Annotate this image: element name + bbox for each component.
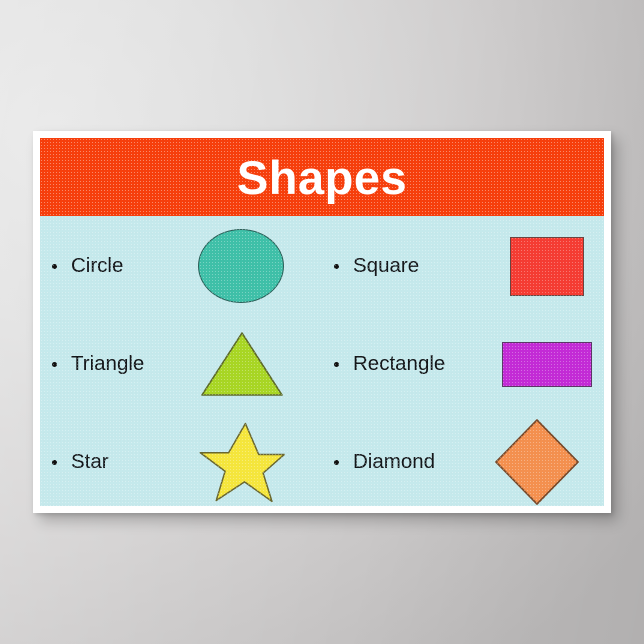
- shapes-poster: Shapes Circle: [33, 131, 611, 513]
- list-item: Circle: [40, 216, 322, 316]
- list-item: Star: [40, 412, 322, 506]
- shape-entry-diamond: Diamond: [322, 452, 474, 473]
- bullet-icon: [52, 460, 57, 465]
- list-item: Rectangle: [322, 314, 604, 414]
- shapes-column-right: Square Rectangle: [322, 216, 604, 506]
- bullet-icon: [334, 264, 339, 269]
- bullet-icon: [52, 362, 57, 367]
- bullet-icon: [334, 460, 339, 465]
- shape-label-triangle: Triangle: [71, 354, 144, 375]
- shape-entry-circle: Circle: [40, 256, 192, 277]
- poster-body: Circle Triangle: [40, 216, 604, 506]
- poster-title-band: Shapes: [40, 138, 604, 216]
- shape-entry-rectangle: Rectangle: [322, 354, 474, 375]
- bullet-icon: [334, 362, 339, 367]
- poster-inner-surface: Shapes Circle: [40, 138, 604, 506]
- shape-entry-square: Square: [322, 256, 474, 277]
- circle-shape: [198, 229, 284, 303]
- bullet-icon: [52, 264, 57, 269]
- page-title: Shapes: [237, 154, 407, 201]
- triangle-shape: [200, 331, 284, 397]
- star-shape: [194, 420, 288, 504]
- shape-label-diamond: Diamond: [353, 452, 435, 473]
- list-item: Triangle: [40, 314, 322, 414]
- shape-label-circle: Circle: [71, 256, 123, 277]
- square-shape: [510, 237, 584, 296]
- list-item: Diamond: [322, 412, 604, 506]
- diamond-shape: [494, 418, 580, 506]
- shape-slot-diamond: [474, 412, 604, 506]
- shape-label-star: Star: [71, 452, 109, 473]
- shape-label-square: Square: [353, 256, 419, 277]
- shape-slot-star: [192, 412, 322, 506]
- shape-slot-square: [474, 216, 604, 316]
- shape-slot-circle: [192, 216, 322, 316]
- shape-entry-triangle: Triangle: [40, 354, 192, 375]
- shape-slot-rectangle: [474, 314, 604, 414]
- shape-slot-triangle: [192, 314, 322, 414]
- rectangle-shape: [502, 342, 592, 387]
- list-item: Square: [322, 216, 604, 316]
- shapes-column-left: Circle Triangle: [40, 216, 322, 506]
- poster-scene: Shapes Circle: [0, 0, 644, 644]
- shape-entry-star: Star: [40, 452, 192, 473]
- shape-label-rectangle: Rectangle: [353, 354, 445, 375]
